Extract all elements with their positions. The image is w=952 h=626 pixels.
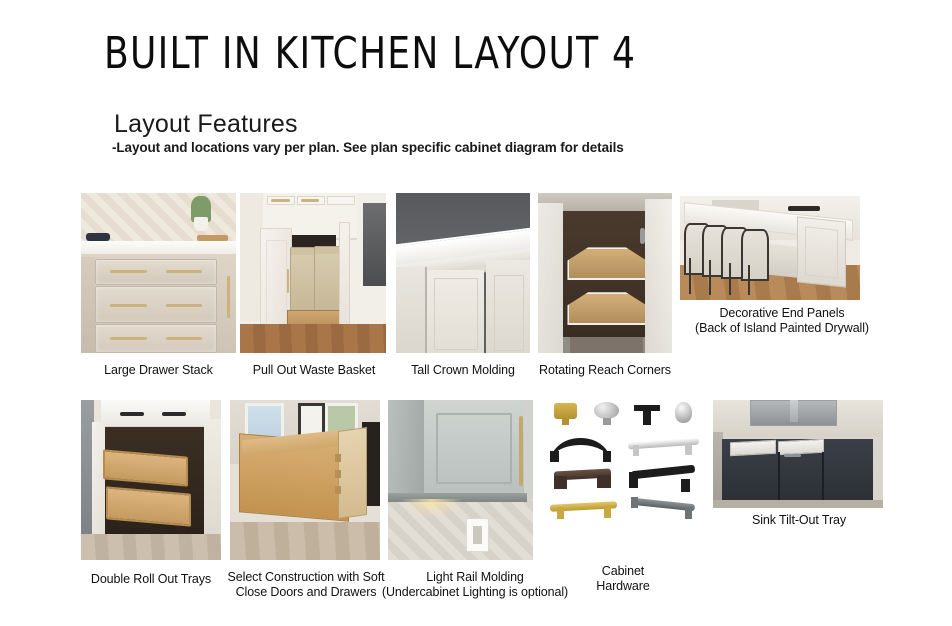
photo-pull-out-waste-basket xyxy=(240,193,386,353)
page-title: BUILT IN KITCHEN LAYOUT 4 xyxy=(104,28,636,79)
caption-rotating-reach-corners: Rotating Reach Corners xyxy=(528,363,682,378)
photo-decorative-end-panels xyxy=(680,196,860,300)
section-heading: Layout Features xyxy=(114,110,298,139)
caption-pull-out-waste-basket: Pull Out Waste Basket xyxy=(216,363,412,378)
caption-select-construction: Select Construction with Soft Close Door… xyxy=(219,570,393,600)
photo-large-drawer-stack xyxy=(81,193,236,353)
photo-select-construction xyxy=(230,400,380,560)
caption-decorative-end-panels: Decorative End Panels (Back of Island Pa… xyxy=(686,306,878,336)
photo-double-roll-out-trays xyxy=(81,400,221,560)
caption-tall-crown-molding: Tall Crown Molding xyxy=(394,363,532,378)
hardware-round-knob-nickel xyxy=(594,402,619,419)
caption-light-rail-molding: Light Rail Molding (Undercabinet Lightin… xyxy=(378,570,572,600)
photo-tall-crown-molding xyxy=(396,193,530,353)
caption-cabinet-hardware: Cabinet Hardware xyxy=(570,564,676,594)
photo-rotating-reach-corners xyxy=(538,193,672,353)
hardware-square-knob-brass xyxy=(554,403,578,419)
hardware-oval-knob-nickel xyxy=(675,402,692,423)
slide-canvas: BUILT IN KITCHEN LAYOUT 4 Layout Feature… xyxy=(0,0,952,626)
photo-sink-tilt-out-tray xyxy=(713,400,883,508)
photo-cabinet-hardware xyxy=(537,398,705,528)
hardware-appliance-pull-black xyxy=(631,465,695,479)
caption-double-roll-out-trays: Double Roll Out Trays xyxy=(62,572,240,587)
caption-sink-tilt-out-tray: Sink Tilt-Out Tray xyxy=(718,513,880,528)
photo-light-rail-molding xyxy=(388,400,533,560)
section-subtitle: -Layout and locations vary per plan. See… xyxy=(112,140,624,155)
